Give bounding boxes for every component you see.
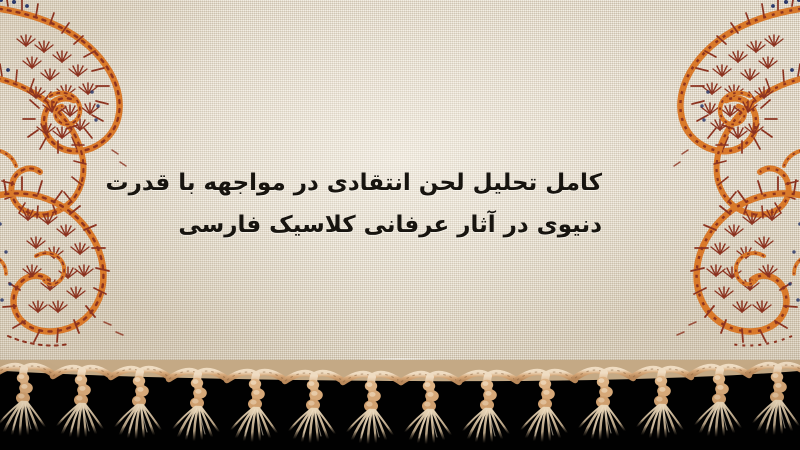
title-line-1: کامل تحلیل لحن انتقادی در مواجهه با قدرت bbox=[190, 162, 602, 204]
title-line-2: دنیوی در آثار عرفانی کلاسیک فارسی bbox=[190, 204, 602, 246]
page-title: کامل تحلیل لحن انتقادی در مواجهه با قدرت… bbox=[190, 162, 602, 246]
title-card: کامل تحلیل لحن انتقادی در مواجهه با قدرت… bbox=[0, 0, 800, 450]
knotted-tassel-fringe bbox=[0, 360, 800, 450]
